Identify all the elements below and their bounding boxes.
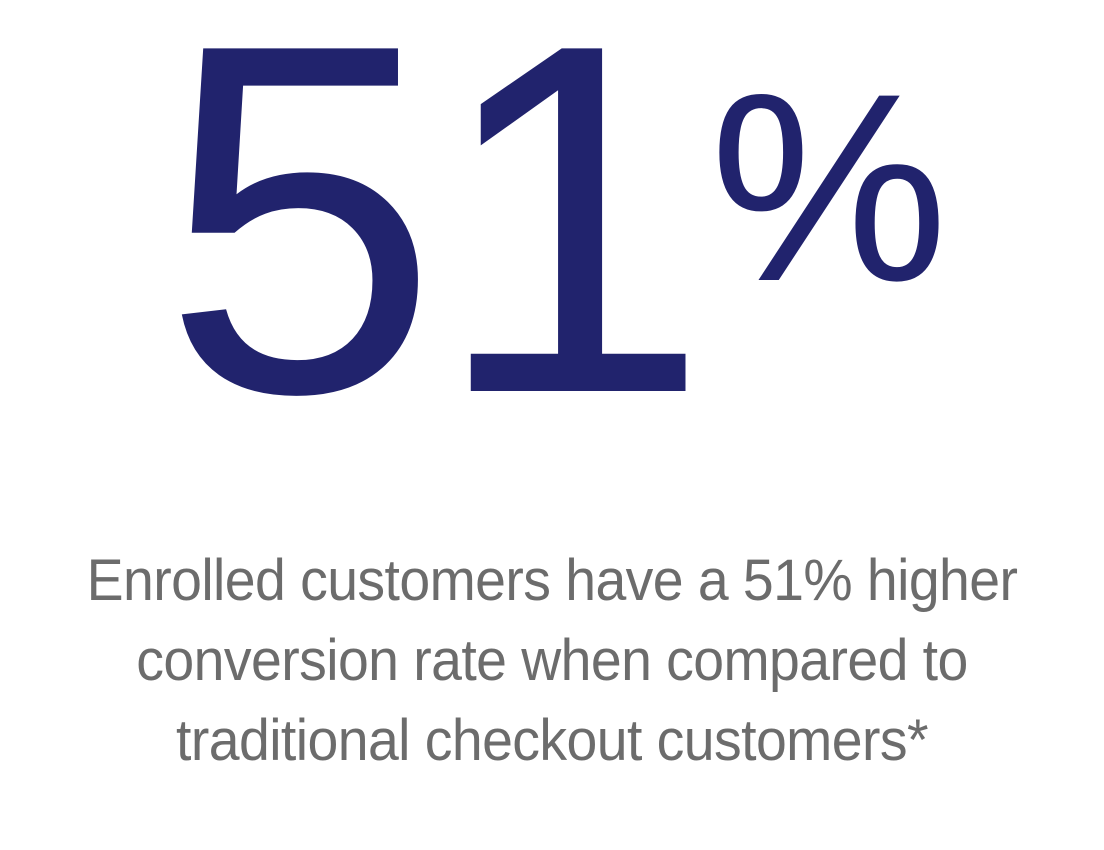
headline-figure-inner: 51 % xyxy=(162,0,942,500)
stat-value: 51 xyxy=(162,0,704,468)
stat-callout-card: 51 % Enrolled customers have a 51% highe… xyxy=(0,0,1104,850)
stat-percent-symbol: % xyxy=(710,53,948,321)
caption-line-3: traditional checkout customers* xyxy=(38,701,1066,781)
stat-caption: Enrolled customers have a 51% higher con… xyxy=(0,541,1104,781)
headline-figure: 51 % xyxy=(0,0,1104,500)
caption-line-2: conversion rate when compared to xyxy=(38,621,1066,701)
caption-line-1: Enrolled customers have a 51% higher xyxy=(38,541,1066,621)
